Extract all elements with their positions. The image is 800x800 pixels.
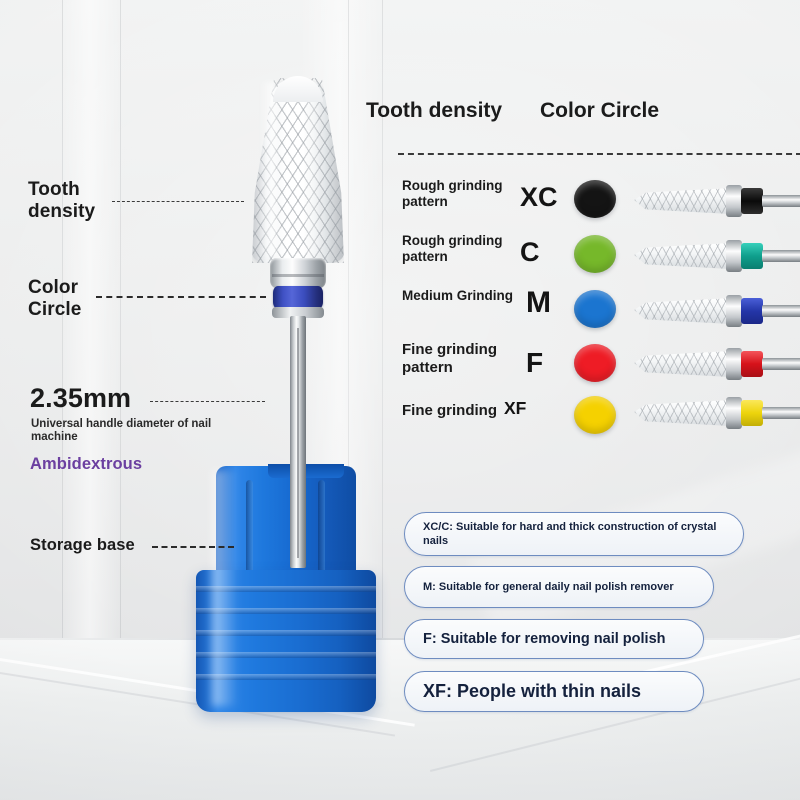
table-row[interactable]: Rough grinding pattern XC xyxy=(398,178,800,236)
label-color-circle-line2: Circle xyxy=(28,298,81,321)
table-row[interactable]: Fine grinding XF xyxy=(398,400,800,458)
nail-drill-bit xyxy=(238,78,358,478)
shank-highlight xyxy=(297,328,299,558)
base-slot xyxy=(246,480,253,576)
collar-groove xyxy=(272,274,324,277)
color-swatch xyxy=(574,344,616,382)
table-row[interactable]: Fine grinding pattern F xyxy=(398,341,800,399)
label-color-circle-line1: Color xyxy=(28,276,78,299)
head-highlight-right xyxy=(308,88,321,256)
table-top-rule xyxy=(398,153,800,155)
thumbnail-cone xyxy=(634,243,730,269)
table-row[interactable]: Medium Grinding M xyxy=(398,288,800,346)
leader-line-color-circle xyxy=(96,296,266,298)
label-storage-base: Storage base xyxy=(30,536,135,555)
note-pill-xc-c[interactable]: XC/C: Suitable for hard and thick constr… xyxy=(404,512,744,556)
row-label: Rough grinding pattern xyxy=(402,178,522,210)
row-label: Medium Grinding xyxy=(402,288,534,304)
metal-collar xyxy=(270,258,326,288)
leader-line-diameter xyxy=(150,401,265,402)
label-shank-diameter: 2.35mm xyxy=(30,383,131,414)
color-swatch xyxy=(574,396,616,434)
note-pill-xf[interactable]: XF: People with thin nails xyxy=(404,671,704,712)
thumbnail-texture xyxy=(634,400,730,426)
infographic-canvas: Tooth density Color Circle 2.35mm Univer… xyxy=(0,0,800,800)
thumbnail-collar xyxy=(726,240,742,272)
thumbnail-collar xyxy=(726,295,742,327)
label-ambidextrous: Ambidextrous xyxy=(30,455,142,474)
table-header-color-circle: Color Circle xyxy=(540,99,659,123)
row-label: Fine grinding xyxy=(402,403,502,419)
thumbnail-shank xyxy=(762,358,800,370)
thumbnail-color-ring xyxy=(741,351,763,377)
thumbnail-collar xyxy=(726,185,742,217)
thumbnail-texture xyxy=(634,351,730,377)
thumbnail-texture xyxy=(634,188,730,214)
base-slot xyxy=(318,480,325,576)
thumbnail-cone xyxy=(634,400,730,426)
color-swatch xyxy=(574,290,616,328)
row-grade: F xyxy=(526,349,543,377)
thumbnail-color-ring xyxy=(741,298,763,324)
note-pill-f[interactable]: F: Suitable for removing nail polish xyxy=(404,619,704,659)
thumbnail-shank xyxy=(762,250,800,262)
thumbnail-collar xyxy=(726,348,742,380)
row-grade: XC xyxy=(520,184,558,211)
row-label: Fine grinding pattern xyxy=(402,341,522,377)
thumbnail-shank xyxy=(762,305,800,317)
row-grade: C xyxy=(520,239,540,266)
thumbnail-color-ring xyxy=(741,188,763,214)
row-label: Rough grinding pattern xyxy=(402,233,522,265)
leader-line-tooth-density xyxy=(112,201,244,202)
label-tooth-density-line2: density xyxy=(28,200,95,223)
bit-thumbnail xyxy=(634,392,800,434)
thumbnail-cone xyxy=(634,298,730,324)
thumbnail-color-ring xyxy=(741,400,763,426)
head-highlight-left xyxy=(260,82,276,257)
storage-base xyxy=(196,466,376,712)
bit-thumbnail xyxy=(634,290,800,332)
color-swatch xyxy=(574,180,616,218)
bit-thumbnail xyxy=(634,343,800,385)
label-tooth-density-line1: Tooth xyxy=(28,178,80,201)
bit-thumbnail xyxy=(634,180,800,222)
table-row[interactable]: Rough grinding pattern C xyxy=(398,233,800,291)
thumbnail-cone xyxy=(634,351,730,377)
thumbnail-shank xyxy=(762,407,800,419)
row-grade: M xyxy=(526,288,551,318)
blue-color-ring xyxy=(273,286,323,309)
table-header-tooth-density: Tooth density xyxy=(366,99,502,123)
caption-shank-diameter: Universal handle diameter of nail machin… xyxy=(31,418,246,444)
thumbnail-color-ring xyxy=(741,243,763,269)
thumbnail-collar xyxy=(726,397,742,429)
row-grade: XF xyxy=(504,400,526,418)
base-highlight xyxy=(212,470,238,706)
thumbnail-texture xyxy=(634,243,730,269)
bit-thumbnail xyxy=(634,235,800,277)
note-pill-m[interactable]: M: Suitable for general daily nail polis… xyxy=(404,566,714,608)
thumbnail-cone xyxy=(634,188,730,214)
thumbnail-texture xyxy=(634,298,730,324)
color-swatch xyxy=(574,235,616,273)
thumbnail-shank xyxy=(762,195,800,207)
leader-line-storage-base xyxy=(152,546,234,548)
